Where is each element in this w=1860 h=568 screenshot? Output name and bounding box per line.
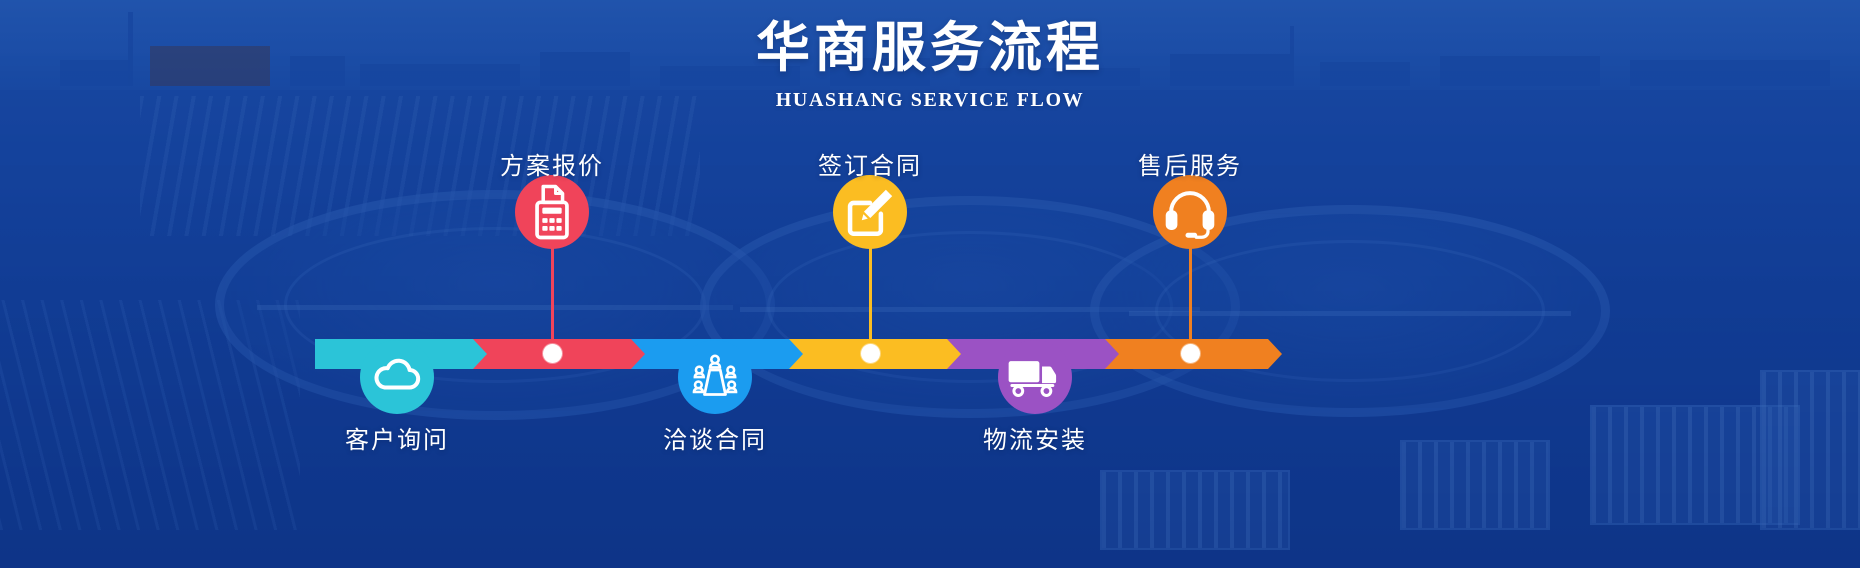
page-title: 华商服务流程 bbox=[0, 16, 1860, 80]
flow-step-label-1: 客户询问 bbox=[247, 420, 547, 455]
meeting-table-icon bbox=[687, 349, 743, 405]
flow-node-dot-6[interactable] bbox=[1181, 344, 1200, 363]
page-header: 华商服务流程 HUASHANG SERVICE FLOW bbox=[0, 16, 1860, 112]
flow-step-label-3: 洽谈合同 bbox=[565, 420, 865, 455]
delivery-truck-icon bbox=[1006, 353, 1064, 401]
flow-step-label-4: 签订合同 bbox=[720, 146, 1020, 181]
flow-icon-bubble-2[interactable] bbox=[515, 175, 589, 249]
page-subtitle: HUASHANG SERVICE FLOW bbox=[0, 89, 1860, 112]
calculator-receipt-icon bbox=[525, 183, 579, 241]
flow-step-label-5: 物流安装 bbox=[885, 420, 1185, 455]
flow-step-label-6: 售后服务 bbox=[1040, 146, 1340, 181]
headset-support-icon bbox=[1161, 185, 1219, 239]
flow-icon-bubble-3[interactable] bbox=[678, 340, 752, 414]
flow-node-dot-4[interactable] bbox=[861, 344, 880, 363]
flow-node-dot-2[interactable] bbox=[543, 344, 562, 363]
edit-pencil-square-icon bbox=[841, 183, 899, 241]
flow-icon-bubble-4[interactable] bbox=[833, 175, 907, 249]
flow-icon-bubble-5[interactable] bbox=[998, 340, 1072, 414]
cloud-icon bbox=[369, 349, 425, 405]
flow-icon-bubble-1[interactable] bbox=[360, 340, 434, 414]
flow-icon-bubble-6[interactable] bbox=[1153, 175, 1227, 249]
flow-step-label-2: 方案报价 bbox=[402, 146, 702, 181]
